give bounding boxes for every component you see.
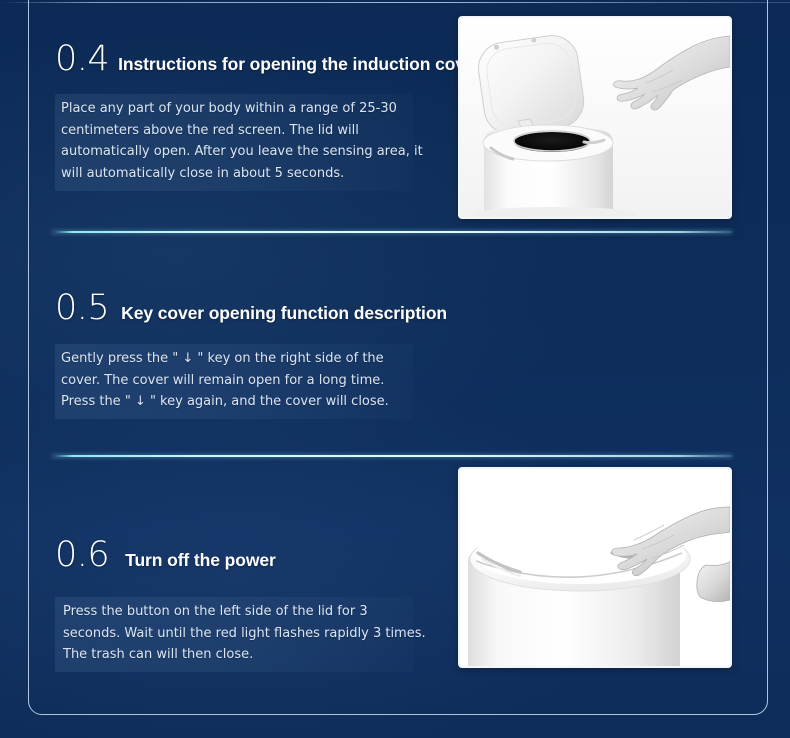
section-photo	[458, 16, 732, 219]
section-number: 0.6	[55, 538, 109, 573]
section-body-plate: Press the button on the left side of the…	[55, 597, 445, 672]
open-lid-sensor-hand-photo	[460, 18, 730, 217]
section-body-text: Press the button on the left side of the…	[63, 601, 435, 666]
section-heading: 0.6 Turn off the power	[55, 538, 445, 573]
section-divider	[52, 455, 732, 457]
instruction-section: 0.5 Key cover opening function descripti…	[0, 226, 790, 451]
top-hairline-divider	[0, 2, 790, 3]
section-title: Key cover opening function description	[121, 305, 447, 323]
section-heading: 0.4 Instructions for opening the inducti…	[55, 42, 445, 77]
section-title: Instructions for opening the induction c…	[118, 56, 481, 74]
section-heading: 0.5 Key cover opening function descripti…	[55, 291, 445, 326]
section-text-column: 0.4 Instructions for opening the inducti…	[55, 42, 445, 191]
instruction-section: 0.4 Instructions for opening the inducti…	[0, 0, 790, 222]
section-title: Turn off the power	[125, 552, 276, 570]
section-body-text: Gently press the " ↓ " key on the right …	[61, 348, 435, 413]
section-body-text: Place any part of your body within a ran…	[61, 98, 435, 185]
section-text-column: 0.6 Turn off the power Press the button …	[55, 538, 445, 672]
section-number: 0.4	[55, 42, 109, 77]
section-number: 0.5	[55, 291, 109, 326]
section-text-column: 0.5 Key cover opening function descripti…	[55, 291, 445, 419]
section-body-plate: Place any part of your body within a ran…	[55, 94, 445, 191]
instruction-section: 0.6 Turn off the power Press the button …	[0, 459, 790, 684]
section-body-plate: Gently press the " ↓ " key on the right …	[55, 344, 445, 419]
product-instruction-page: 0.4 Instructions for opening the inducti…	[0, 0, 790, 738]
section-divider	[52, 231, 732, 233]
